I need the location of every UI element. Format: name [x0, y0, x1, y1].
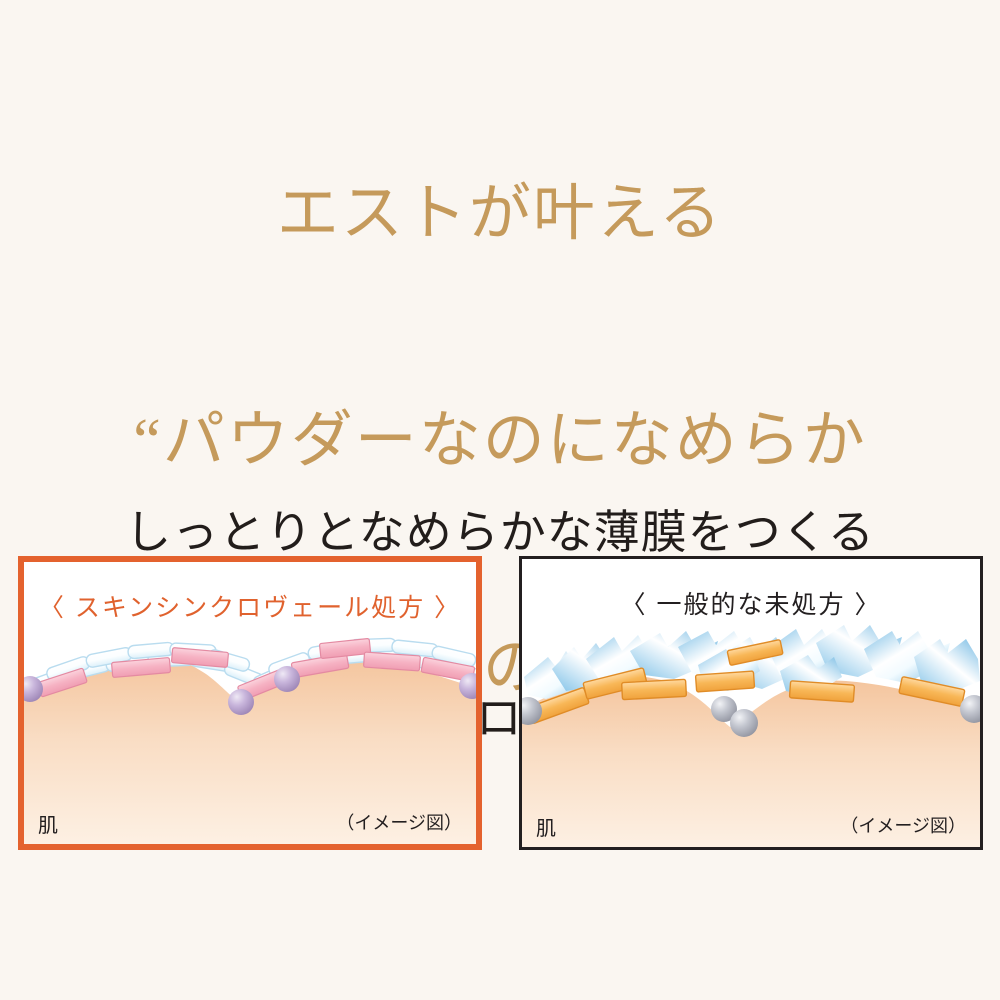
headline-line-1: エストが叶える: [0, 177, 1000, 253]
panel-title-left: 〈 スキンシンクロヴェール処方 〉: [24, 588, 476, 624]
pink-plate: [364, 652, 421, 671]
advertisement-page: エストが叶える “パウダーなのになめらか 艶肌仕上げ”のヒミツは？ しっとりとな…: [0, 0, 1000, 1000]
orange-plate: [789, 681, 854, 702]
panel-skin-synchro-veil: 〈 スキンシンクロヴェール処方 〉 肌 （イメージ図）: [18, 556, 482, 850]
panel-title-right: 〈 一般的な未処方 〉: [522, 585, 980, 621]
subtitle-line-1: しっとりとなめらかな薄膜をつくる: [0, 502, 1000, 564]
panel-general-untreated: 〈 一般的な未処方 〉 肌 （イメージ図）: [519, 556, 983, 850]
orange-plate: [622, 679, 687, 699]
orange-plate: [696, 671, 755, 692]
skin-surface: [522, 677, 980, 847]
